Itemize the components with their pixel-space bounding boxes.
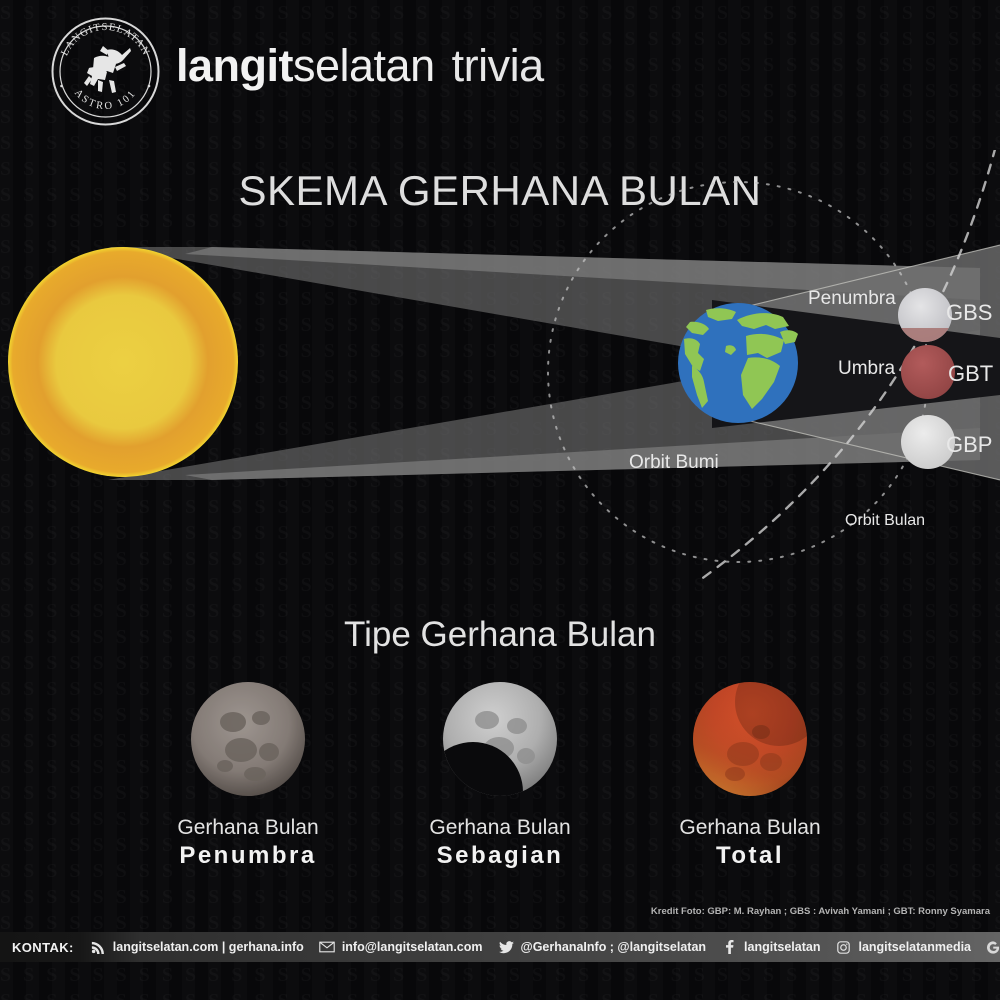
instagram-icon bbox=[835, 940, 852, 955]
footer-item-instagram[interactable]: langitselatanmedia bbox=[835, 940, 971, 955]
moon-gbt-label: GBT bbox=[948, 361, 993, 387]
footer-item-email[interactable]: info@langitselatan.com bbox=[319, 940, 483, 955]
facebook-icon bbox=[721, 940, 738, 955]
envelope-icon bbox=[319, 940, 336, 955]
sun bbox=[8, 247, 238, 477]
footer-email-text: info@langitselatan.com bbox=[342, 940, 483, 954]
contact-footer: KONTAK: langitselatan.com | gerhana.info… bbox=[0, 932, 1000, 962]
moon-partial-photo bbox=[441, 680, 559, 798]
footer-twitter-text: @GerhanaInfo ; @langitselatan bbox=[521, 940, 707, 954]
section-title: Tipe Gerhana Bulan bbox=[0, 615, 1000, 655]
brand-bold: langit bbox=[176, 40, 293, 91]
langitselatan-seal-logo: LANGITSELATAN ASTRO 101 bbox=[48, 14, 163, 129]
gallery-item-partial: Gerhana Bulan Sebagian bbox=[370, 680, 630, 870]
eclipse-type-gallery: Gerhana Bulan Penumbra bbox=[0, 680, 1000, 870]
footer-facebook-text: langitselatan bbox=[744, 940, 820, 954]
moon-gbt bbox=[901, 345, 955, 399]
brand-title: langitselatantrivia bbox=[176, 40, 544, 92]
gallery-caption-bottom: Sebagian bbox=[370, 842, 630, 870]
moon-penumbral-photo bbox=[189, 680, 307, 798]
brand-suffix: trivia bbox=[452, 40, 544, 91]
moon-total-photo bbox=[691, 680, 809, 798]
footer-item-googleplus[interactable]: LangitselatanMedia bbox=[986, 940, 1000, 955]
moon-gbs-label: GBS bbox=[946, 300, 992, 326]
rss-icon bbox=[90, 940, 107, 955]
infographic-page: SSSSSSSSSSSSSSSSSSSSSSSSSSSSSSSSSSSSSSSS… bbox=[0, 0, 1000, 1000]
gallery-caption-top: Gerhana Bulan bbox=[118, 816, 378, 840]
footer-website-text: langitselatan.com | gerhana.info bbox=[113, 940, 304, 954]
gallery-caption-bottom: Total bbox=[620, 842, 880, 870]
twitter-icon bbox=[498, 940, 515, 955]
header: LANGITSELATAN ASTRO 101 langitselatantri… bbox=[0, 0, 1000, 135]
kontak-label: KONTAK: bbox=[12, 940, 74, 955]
orbit-bumi-label: Orbit Bumi bbox=[629, 452, 719, 474]
gallery-caption-bottom: Penumbra bbox=[118, 842, 378, 870]
footer-instagram-text: langitselatanmedia bbox=[858, 940, 971, 954]
svg-text:ASTRO 101: ASTRO 101 bbox=[72, 88, 139, 113]
brand-light: selatan bbox=[293, 40, 435, 91]
photo-credit: Kredit Foto: GBP: M. Rayhan ; GBS : Aviv… bbox=[651, 906, 990, 917]
footer-item-facebook[interactable]: langitselatan bbox=[721, 940, 820, 955]
centaur-figure bbox=[84, 46, 131, 93]
footer-item-website[interactable]: langitselatan.com | gerhana.info bbox=[90, 940, 304, 955]
umbra-label: Umbra bbox=[838, 358, 895, 380]
gallery-item-penumbral: Gerhana Bulan Penumbra bbox=[118, 680, 378, 870]
orbit-bulan-label: Orbit Bulan bbox=[845, 512, 925, 530]
google-plus-icon bbox=[986, 940, 1000, 955]
moon-gbp-label: GBP bbox=[946, 432, 992, 458]
gallery-caption-top: Gerhana Bulan bbox=[370, 816, 630, 840]
footer-item-twitter[interactable]: @GerhanaInfo ; @langitselatan bbox=[498, 940, 707, 955]
gallery-caption-top: Gerhana Bulan bbox=[620, 816, 880, 840]
gallery-item-total: Gerhana Bulan Total bbox=[620, 680, 880, 870]
earth bbox=[678, 303, 798, 423]
penumbra-label: Penumbra bbox=[808, 288, 896, 310]
